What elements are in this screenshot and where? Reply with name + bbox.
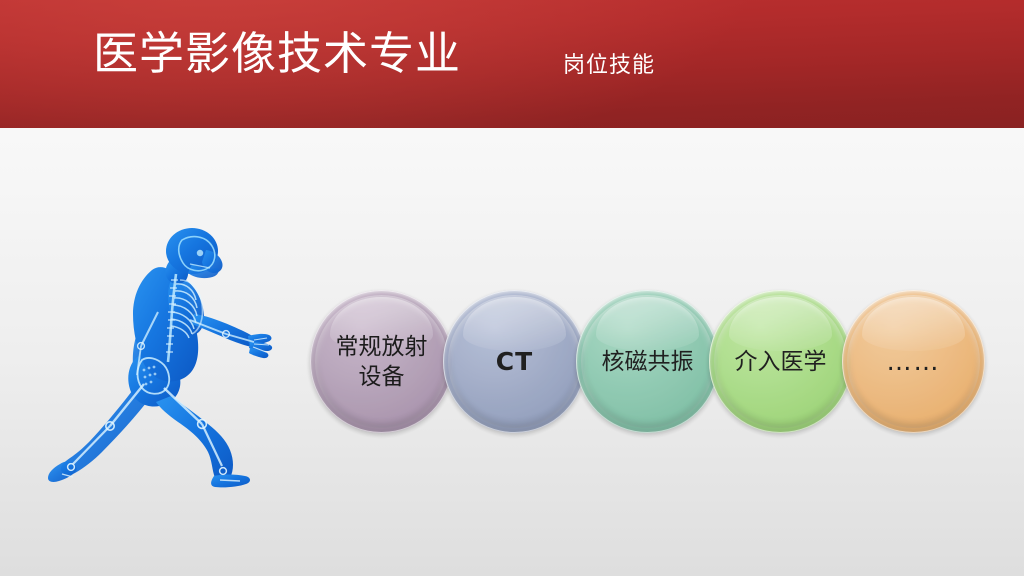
skill-circle-3-label: 核磁共振: [602, 347, 694, 377]
page-subtitle: 岗位技能: [563, 52, 655, 80]
skill-circle-2[interactable]: CT: [443, 290, 586, 433]
skill-circle-5[interactable]: ……: [842, 290, 985, 433]
skill-circle-5-label: ……: [887, 347, 941, 377]
skill-circle-4-label: 介入医学: [735, 347, 827, 377]
slide-header-banner: 医学影像技术专业 岗位技能: [0, 0, 1024, 128]
skill-circle-3[interactable]: 核磁共振: [576, 290, 719, 433]
skills-circle-diagram: 常规放射设备 CT 核磁共振 介入医学: [0, 128, 1024, 576]
circle-highlight: [729, 297, 832, 351]
circle-highlight: [463, 297, 566, 351]
slide-body: 常规放射设备 CT 核磁共振 介入医学: [0, 128, 1024, 576]
slide: 医学影像技术专业 岗位技能: [0, 0, 1024, 576]
circle-highlight: [862, 297, 965, 351]
skill-circle-1[interactable]: 常规放射设备: [310, 290, 453, 433]
page-title: 医学影像技术专业: [93, 26, 461, 82]
skill-circle-4[interactable]: 介入医学: [709, 290, 852, 433]
circle-highlight: [596, 297, 699, 351]
skill-circle-1-label: 常规放射设备: [329, 332, 434, 392]
skill-circle-2-label: CT: [496, 347, 533, 377]
